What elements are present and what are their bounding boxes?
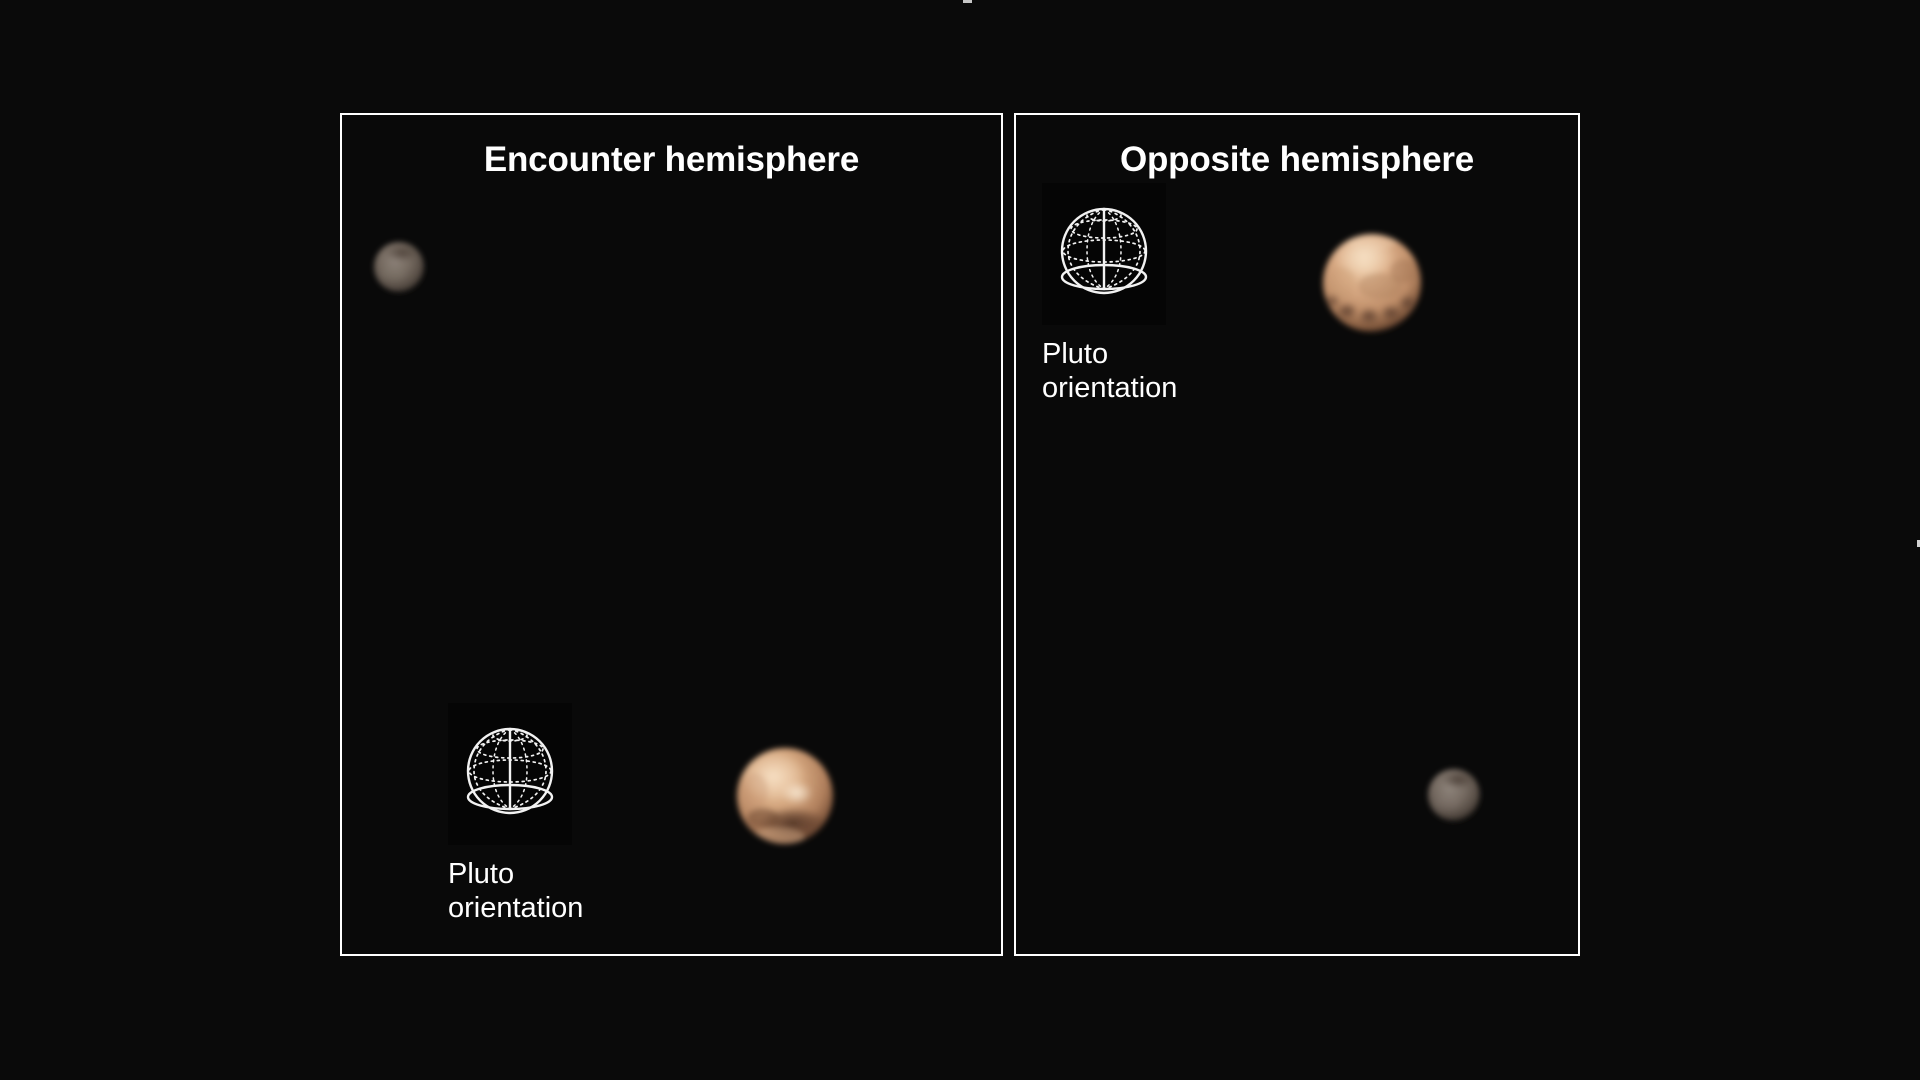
orientation-block-encounter: Pluto orientation — [448, 703, 583, 926]
orientation-block-opposite: Pluto orientation — [1042, 183, 1177, 406]
panel-title-encounter: Encounter hemisphere — [342, 140, 1001, 180]
panel-opposite-hemisphere: Opposite hemisphere — [1014, 113, 1580, 956]
globe-wireframe-icon — [448, 703, 572, 845]
charon-disc-opposite — [1374, 715, 1534, 875]
page-canvas: Encounter hemisphere — [0, 0, 1920, 1080]
panel-encounter-hemisphere: Encounter hemisphere — [340, 113, 1003, 956]
orientation-caption-opposite: Pluto orientation — [1042, 338, 1177, 406]
orientation-caption-encounter: Pluto orientation — [448, 858, 583, 926]
charon-disc-encounter — [319, 187, 479, 347]
globe-wireframe-icon — [1042, 183, 1166, 325]
pluto-disc-encounter — [685, 696, 885, 896]
render-artifact-top — [963, 0, 972, 3]
pluto-disc-opposite — [1272, 183, 1472, 383]
panel-title-opposite: Opposite hemisphere — [1016, 140, 1578, 180]
